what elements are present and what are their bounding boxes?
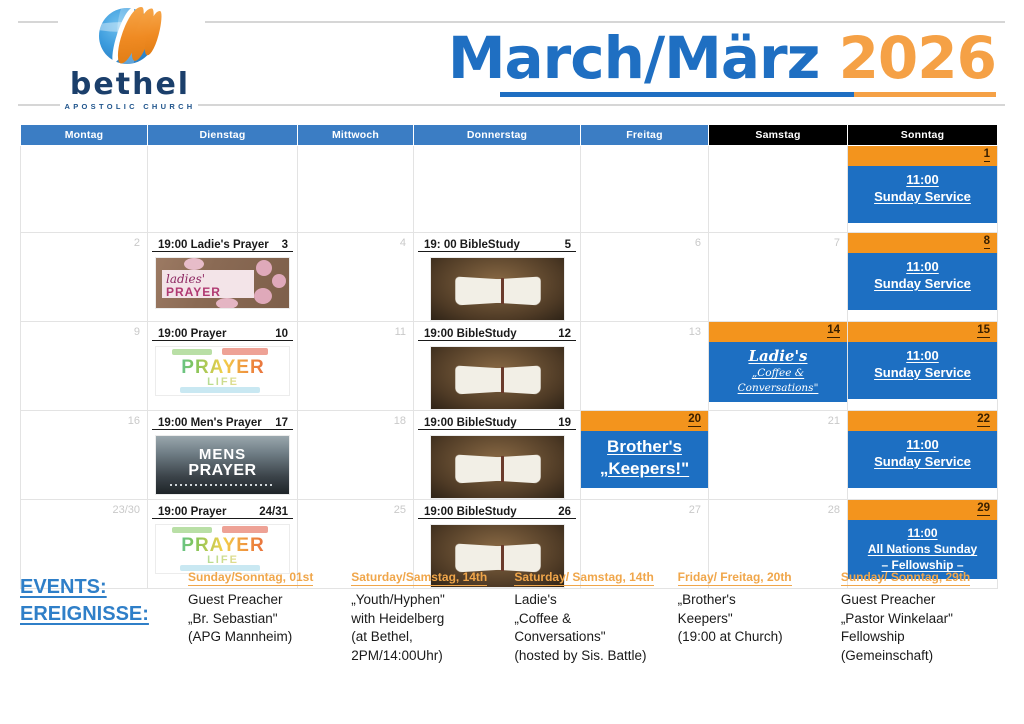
event-text-line: (Gemeinschaft) bbox=[841, 647, 994, 666]
date-number: 7 bbox=[709, 233, 847, 249]
date-number: 8 bbox=[984, 235, 990, 249]
events-section-label: EVENTS: EREIGNISSE: bbox=[20, 568, 188, 628]
event-line: 11:00 bbox=[852, 436, 993, 453]
calendar-cell-sunday-service[interactable]: 8 11:00 Sunday Service bbox=[848, 233, 998, 322]
page-title-underline bbox=[500, 92, 996, 97]
event-title: 19:00 Prayer bbox=[158, 506, 226, 518]
event-title: 19: 00 BibleStudy bbox=[424, 239, 520, 251]
date-number: 27 bbox=[581, 500, 708, 516]
event-date: Saturday/ Samstag, 14th bbox=[514, 570, 653, 586]
date-number: 26 bbox=[558, 506, 571, 518]
prayer-life-image: PRAYERLIFE bbox=[155, 524, 290, 574]
event-text-line: (at Bethel, bbox=[351, 628, 504, 647]
bethel-logo: bethel APOSTOLIC CHURCH MANY NATIONS - O… bbox=[55, 6, 205, 118]
prayer-life-image: PRAYERLIFE bbox=[155, 346, 290, 396]
date-number: 22 bbox=[977, 413, 990, 427]
event-line: Sunday Service bbox=[852, 453, 993, 470]
event-text-line: with Heidelberg bbox=[351, 610, 504, 629]
calendar-week-row: 9 19:00 Prayer 10 PRAYERLIFE 11 19:00 Bi… bbox=[21, 322, 998, 411]
day-header-dienstag: Dienstag bbox=[148, 125, 298, 146]
calendar-cell[interactable] bbox=[148, 146, 298, 233]
date-number: 21 bbox=[709, 411, 847, 427]
events-label-en: EVENTS: bbox=[20, 574, 188, 601]
calendar-cell[interactable]: 21 bbox=[709, 411, 848, 500]
header-rule-left-bottom bbox=[18, 104, 60, 106]
calendar-header-row: Montag Dienstag Mittwoch Donnerstag Frei… bbox=[21, 125, 998, 146]
event-block[interactable]: 11:00 Sunday Service bbox=[848, 253, 997, 310]
event-text-line: Keepers" bbox=[678, 610, 831, 629]
event-text-line: Ladie's bbox=[514, 591, 667, 610]
logo-wordmark: bethel bbox=[55, 70, 205, 100]
event-item: Sunday/ Sonntag, 29th Guest Preacher „Pa… bbox=[841, 568, 1004, 665]
date-banner: 22 bbox=[848, 411, 997, 431]
calendar-cell[interactable]: 2 bbox=[21, 233, 148, 322]
page-title-year: 2026 bbox=[839, 24, 996, 92]
date-number: 15 bbox=[977, 324, 990, 338]
date-banner: 20 bbox=[581, 411, 708, 431]
calendar-cell[interactable] bbox=[414, 146, 581, 233]
event-block[interactable]: 11:00 Sunday Service bbox=[848, 166, 997, 223]
event-line: „Keepers!" bbox=[585, 458, 704, 480]
calendar-cell-sunday-service[interactable]: 22 11:00 Sunday Service bbox=[848, 411, 998, 500]
event-text-line: „Brother's bbox=[678, 591, 831, 610]
calendar-cell[interactable]: 4 bbox=[298, 233, 414, 322]
calendar-cell-mens-prayer[interactable]: 19:00 Men's Prayer 17 MENSPRAYER bbox=[148, 411, 298, 500]
event-block[interactable]: 11:00 Sunday Service bbox=[848, 431, 997, 488]
event-text-line: 2PM/14:00Uhr) bbox=[351, 647, 504, 666]
date-number: 13 bbox=[581, 322, 708, 338]
open-bible-image bbox=[430, 257, 565, 321]
day-header-sonntag: Sonntag bbox=[848, 125, 998, 146]
event-date: Saturday/Samstag, 14th bbox=[351, 570, 487, 586]
event-text-line: (hosted by Sis. Battle) bbox=[514, 647, 667, 666]
date-number: 19 bbox=[558, 417, 571, 429]
calendar-cell[interactable]: 6 bbox=[581, 233, 709, 322]
date-number: 9 bbox=[21, 322, 147, 338]
page-header: bethel APOSTOLIC CHURCH MANY NATIONS - O… bbox=[0, 0, 1024, 122]
date-banner: 14 bbox=[709, 322, 847, 342]
event-title: 19:00 Men's Prayer bbox=[158, 417, 262, 429]
event-title-row: 19:00 Prayer 24/31 bbox=[152, 503, 293, 519]
event-item: Friday/ Freitag, 20th „Brother's Keepers… bbox=[678, 568, 841, 647]
event-text-line: „Br. Sebastian" bbox=[188, 610, 341, 629]
calendar-cell[interactable]: 9 bbox=[21, 322, 148, 411]
page-title-month: March/März bbox=[448, 24, 820, 92]
date-number: 3 bbox=[282, 239, 288, 251]
event-line: 11:00 bbox=[852, 347, 993, 364]
ladies-prayer-image: ladies'PRAYER bbox=[155, 257, 290, 309]
event-title: 19:00 BibleStudy bbox=[424, 506, 517, 518]
date-number: 14 bbox=[827, 324, 840, 338]
date-number: 29 bbox=[977, 502, 990, 516]
calendar-cell-ladies-prayer[interactable]: 19:00 Ladie's Prayer 3 ladies'PRAYER bbox=[148, 233, 298, 322]
calendar-cell[interactable] bbox=[581, 146, 709, 233]
event-text-line: „Youth/Hyphen" bbox=[351, 591, 504, 610]
calendar-cell[interactable]: 16 bbox=[21, 411, 148, 500]
date-number: 23/30 bbox=[21, 500, 147, 516]
calendar-cell[interactable]: 11 bbox=[298, 322, 414, 411]
event-line: 11:00 bbox=[852, 258, 993, 275]
calendar-week-row: 1 11:00 Sunday Service bbox=[21, 146, 998, 233]
event-line: Brother's bbox=[585, 436, 704, 458]
date-number: 2 bbox=[21, 233, 147, 249]
date-number: 20 bbox=[688, 413, 701, 427]
day-header-montag: Montag bbox=[21, 125, 148, 146]
event-description: Guest Preacher „Pastor Winkelaar" Fellow… bbox=[841, 591, 994, 665]
calendar-grid: Montag Dienstag Mittwoch Donnerstag Frei… bbox=[20, 124, 998, 589]
date-number: 24/31 bbox=[259, 506, 288, 518]
event-line: Sunday Service bbox=[852, 275, 993, 292]
event-line: All Nations Sunday bbox=[852, 541, 993, 557]
calendar-week-row: 2 19:00 Ladie's Prayer 3 ladies'PRAYER 4… bbox=[21, 233, 998, 322]
calendar-cell-ladies-coffee[interactable]: 14 Ladie's „Coffee & Conversations" bbox=[709, 322, 848, 411]
event-text-line: (19:00 at Church) bbox=[678, 628, 831, 647]
event-description: „Youth/Hyphen" with Heidelberg (at Bethe… bbox=[351, 591, 504, 665]
event-description: Guest Preacher „Br. Sebastian" (APG Mann… bbox=[188, 591, 341, 647]
event-text-line: Conversations" bbox=[514, 628, 667, 647]
event-title-row: 19: 00 BibleStudy 5 bbox=[418, 236, 576, 252]
event-description: Ladie's „Coffee & Conversations" (hosted… bbox=[514, 591, 667, 665]
event-title-row: 19:00 BibleStudy 19 bbox=[418, 414, 576, 430]
date-number: 18 bbox=[298, 411, 413, 427]
event-title: 19:00 BibleStudy bbox=[424, 417, 517, 429]
event-title: 19:00 BibleStudy bbox=[424, 328, 517, 340]
event-title-row: 19:00 BibleStudy 12 bbox=[418, 325, 576, 341]
date-number: 10 bbox=[275, 328, 288, 340]
header-rule-right-top bbox=[205, 21, 1005, 23]
date-number: 17 bbox=[275, 417, 288, 429]
events-label-de: EREIGNISSE: bbox=[20, 601, 188, 628]
date-number: 4 bbox=[298, 233, 413, 249]
date-banner: 29 bbox=[848, 500, 997, 520]
event-item: Sunday/Sonntag, 01st Guest Preacher „Br.… bbox=[188, 568, 351, 647]
calendar-cell[interactable] bbox=[709, 146, 848, 233]
date-number: 1 bbox=[984, 148, 990, 162]
event-line: „Coffee & Conversations" bbox=[713, 366, 843, 396]
calendar-cell-bible-study[interactable]: 19: 00 BibleStudy 5 bbox=[414, 233, 581, 322]
event-line: Sunday Service bbox=[852, 188, 993, 205]
event-title-row: 19:00 Men's Prayer 17 bbox=[152, 414, 293, 430]
calendar-cell-sunday-service[interactable]: 1 11:00 Sunday Service bbox=[848, 146, 998, 233]
day-header-freitag: Freitag bbox=[581, 125, 709, 146]
calendar-cell-sunday-service[interactable]: 15 11:00 Sunday Service bbox=[848, 322, 998, 411]
event-title: 19:00 Prayer bbox=[158, 328, 226, 340]
calendar-cell-bible-study[interactable]: 19:00 BibleStudy 19 bbox=[414, 411, 581, 500]
calendar-cell[interactable]: 18 bbox=[298, 411, 414, 500]
event-date: Friday/ Freitag, 20th bbox=[678, 570, 792, 586]
date-number: 5 bbox=[565, 239, 571, 251]
event-block[interactable]: 11:00 Sunday Service bbox=[848, 342, 997, 399]
page-title: March/März 2026 bbox=[448, 24, 996, 92]
calendar-week-row: 16 19:00 Men's Prayer 17 MENSPRAYER 18 1… bbox=[21, 411, 998, 500]
date-number: 28 bbox=[709, 500, 847, 516]
event-text-line: Fellowship bbox=[841, 628, 994, 647]
header-rule-left-top bbox=[18, 21, 58, 23]
date-number: 25 bbox=[298, 500, 413, 516]
event-text-line: „Coffee & bbox=[514, 610, 667, 629]
event-line: Ladie's bbox=[713, 347, 843, 366]
open-bible-image bbox=[430, 435, 565, 499]
date-number: 16 bbox=[21, 411, 147, 427]
date-number: 6 bbox=[581, 233, 708, 249]
calendar-cell-bible-study[interactable]: 19:00 BibleStudy 12 bbox=[414, 322, 581, 411]
open-bible-image bbox=[430, 346, 565, 410]
event-line: 11:00 bbox=[852, 171, 993, 188]
calendar-cell[interactable] bbox=[298, 146, 414, 233]
event-date: Sunday/Sonntag, 01st bbox=[188, 570, 313, 586]
day-header-samstag: Samstag bbox=[709, 125, 848, 146]
events-section: EVENTS: EREIGNISSE: Sunday/Sonntag, 01st… bbox=[20, 568, 1004, 716]
calendar-cell[interactable] bbox=[21, 146, 148, 233]
event-title-row: 19:00 Prayer 10 bbox=[152, 325, 293, 341]
event-line: 11:00 bbox=[852, 525, 993, 541]
date-number: 11 bbox=[298, 322, 413, 338]
day-header-mittwoch: Mittwoch bbox=[298, 125, 414, 146]
date-banner: 1 bbox=[848, 146, 997, 166]
event-text-line: „Pastor Winkelaar" bbox=[841, 610, 994, 629]
calendar-cell-prayer[interactable]: 19:00 Prayer 10 PRAYERLIFE bbox=[148, 322, 298, 411]
calendar-cell[interactable]: 13 bbox=[581, 322, 709, 411]
event-date: Sunday/ Sonntag, 29th bbox=[841, 570, 970, 586]
event-title: 19:00 Ladie's Prayer bbox=[158, 239, 269, 251]
event-title-row: 19:00 BibleStudy 26 bbox=[418, 503, 576, 519]
logo-globe-flame-icon bbox=[75, 6, 185, 68]
mens-prayer-image: MENSPRAYER bbox=[155, 435, 290, 495]
event-line: Sunday Service bbox=[852, 364, 993, 381]
event-item: Saturday/Samstag, 14th „Youth/Hyphen" wi… bbox=[351, 568, 514, 665]
event-text-line: Guest Preacher bbox=[188, 591, 341, 610]
date-number: 12 bbox=[558, 328, 571, 340]
event-text-line: (APG Mannheim) bbox=[188, 628, 341, 647]
event-text-line: Guest Preacher bbox=[841, 591, 994, 610]
day-header-donnerstag: Donnerstag bbox=[414, 125, 581, 146]
event-title-row: 19:00 Ladie's Prayer 3 bbox=[152, 236, 293, 252]
header-rule-right-bottom bbox=[198, 104, 1005, 106]
calendar-cell-brothers-keepers[interactable]: 20 Brother's „Keepers!" bbox=[581, 411, 709, 500]
date-banner: 15 bbox=[848, 322, 997, 342]
event-block[interactable]: Ladie's „Coffee & Conversations" bbox=[709, 342, 847, 402]
event-block[interactable]: Brother's „Keepers!" bbox=[581, 431, 708, 488]
event-item: Saturday/ Samstag, 14th Ladie's „Coffee … bbox=[514, 568, 677, 665]
calendar-cell[interactable]: 7 bbox=[709, 233, 848, 322]
logo-subtitle: APOSTOLIC CHURCH bbox=[55, 102, 205, 111]
date-banner: 8 bbox=[848, 233, 997, 253]
event-description: „Brother's Keepers" (19:00 at Church) bbox=[678, 591, 831, 647]
